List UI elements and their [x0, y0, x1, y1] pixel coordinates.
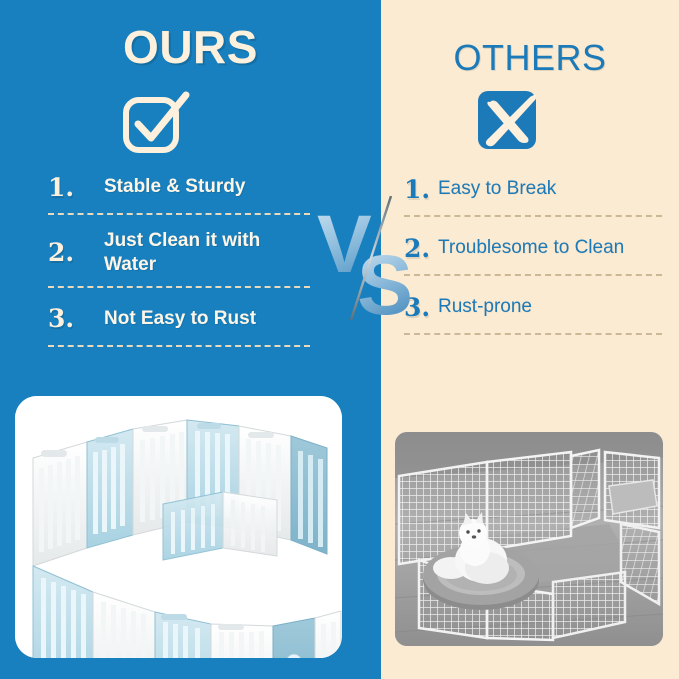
list-divider [404, 274, 662, 276]
others-drawback-list: 1. Easy to Break 2. Troublesome to Clean… [404, 172, 662, 349]
list-divider [404, 333, 662, 335]
list-item-label: Rust-prone [438, 295, 532, 319]
ours-benefit-list: 1. Stable & Sturdy 2. Just Clean it with… [48, 168, 310, 361]
versus-badge: V S [315, 196, 427, 320]
plastic-playpen-photo [15, 396, 342, 658]
checkbox-check-icon [120, 88, 192, 160]
list-item-label: Not Easy to Rust [104, 307, 256, 331]
list-item: 2. Just Clean it with Water [48, 229, 310, 277]
list-item-label: Troublesome to Clean [438, 236, 624, 260]
list-item-label: Just Clean it with Water [104, 229, 310, 277]
list-item: 3. Not Easy to Rust [48, 302, 310, 336]
cross-x-icon [473, 83, 547, 157]
ours-product-photo-card [15, 396, 342, 658]
list-item-number: 1. [48, 175, 104, 200]
list-item: 1. Easy to Break [404, 172, 662, 206]
others-title: OTHERS [381, 37, 679, 79]
list-item-number: 3. [48, 306, 104, 331]
list-divider [48, 213, 310, 215]
list-item-number: 2. [48, 240, 104, 265]
list-item: 3. Rust-prone [404, 290, 662, 324]
list-divider [48, 286, 310, 288]
comparison-infographic: OURS 1. Stable & Sturdy 2. Just Clean it… [0, 0, 679, 679]
others-product-photo-card [395, 432, 663, 646]
list-divider [48, 345, 310, 347]
ours-title: OURS [0, 20, 381, 74]
list-item-label: Stable & Sturdy [104, 175, 245, 199]
list-divider [404, 215, 662, 217]
list-item-label: Easy to Break [438, 177, 556, 201]
wire-pen-dog-photo [395, 432, 663, 646]
list-item: 2. Troublesome to Clean [404, 231, 662, 265]
list-item: 1. Stable & Sturdy [48, 170, 310, 204]
